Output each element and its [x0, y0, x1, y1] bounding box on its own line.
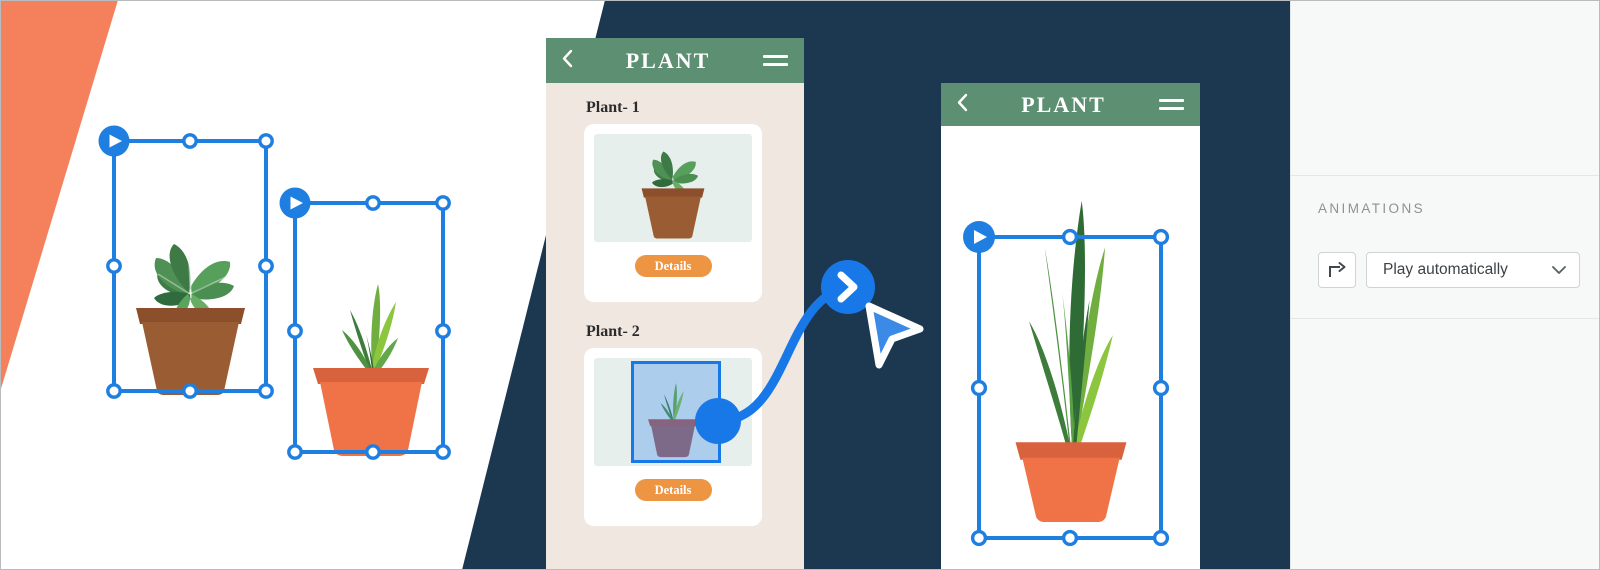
plant-card-2[interactable]: Details: [584, 348, 762, 526]
panel-divider-bottom: [1291, 318, 1600, 319]
phone-detail-body: [941, 126, 1200, 570]
selected-layer-highlight[interactable]: [631, 361, 721, 463]
chevron-down-icon: [1551, 265, 1567, 275]
animation-trigger-select[interactable]: Play automatically: [1366, 252, 1580, 288]
chevron-left-icon[interactable]: [562, 49, 573, 73]
plant-card-image-2: [594, 358, 752, 466]
phone-mockup-list[interactable]: PLANT Plant- 1: [546, 38, 804, 570]
animation-trigger-value: Play automatically: [1383, 261, 1508, 279]
play-icon: [280, 188, 311, 219]
hamburger-icon[interactable]: [1159, 98, 1184, 112]
plant-label-1: Plant- 1: [586, 99, 766, 117]
phone-list-title: PLANT: [573, 48, 763, 74]
play-icon: [99, 126, 130, 157]
panel-divider-top: [1291, 175, 1600, 176]
selection-frame-detail[interactable]: [965, 223, 1175, 543]
phone-mockup-detail[interactable]: PLANT: [941, 83, 1200, 570]
inspector-panel: ANIMATIONS Play automatically: [1290, 0, 1600, 570]
animation-trigger-row: Play automatically: [1318, 252, 1580, 288]
selection-frame-1[interactable]: [100, 127, 280, 405]
plant-label-2: Plant- 2: [586, 323, 766, 341]
play-icon: [963, 221, 995, 253]
phone-detail-title: PLANT: [968, 92, 1159, 118]
design-canvas[interactable]: PLANT Plant- 1: [0, 0, 1290, 570]
phone-list-appbar: PLANT: [546, 38, 804, 83]
animations-section-title: ANIMATIONS: [1318, 201, 1425, 216]
plant-card-image-1: [594, 134, 752, 242]
hamburger-icon[interactable]: [763, 54, 788, 68]
plant-card-1[interactable]: Details: [584, 124, 762, 302]
chevron-left-icon[interactable]: [957, 93, 968, 117]
phone-list-body: Plant- 1: [546, 83, 804, 570]
share-arrow-icon-button[interactable]: [1318, 252, 1356, 288]
plant-list-item-2[interactable]: Plant- 2: [584, 323, 766, 526]
phone-detail-appbar: PLANT: [941, 83, 1200, 126]
plant-list-item-1[interactable]: Plant- 1: [584, 99, 766, 302]
details-button-1[interactable]: Details: [635, 255, 712, 277]
selection-frame-2[interactable]: [281, 186, 461, 471]
share-arrow-icon: [1328, 261, 1347, 279]
plant-thumb-art-1: [637, 146, 709, 240]
details-button-2[interactable]: Details: [635, 479, 712, 501]
app-root: PLANT Plant- 1: [0, 0, 1600, 570]
